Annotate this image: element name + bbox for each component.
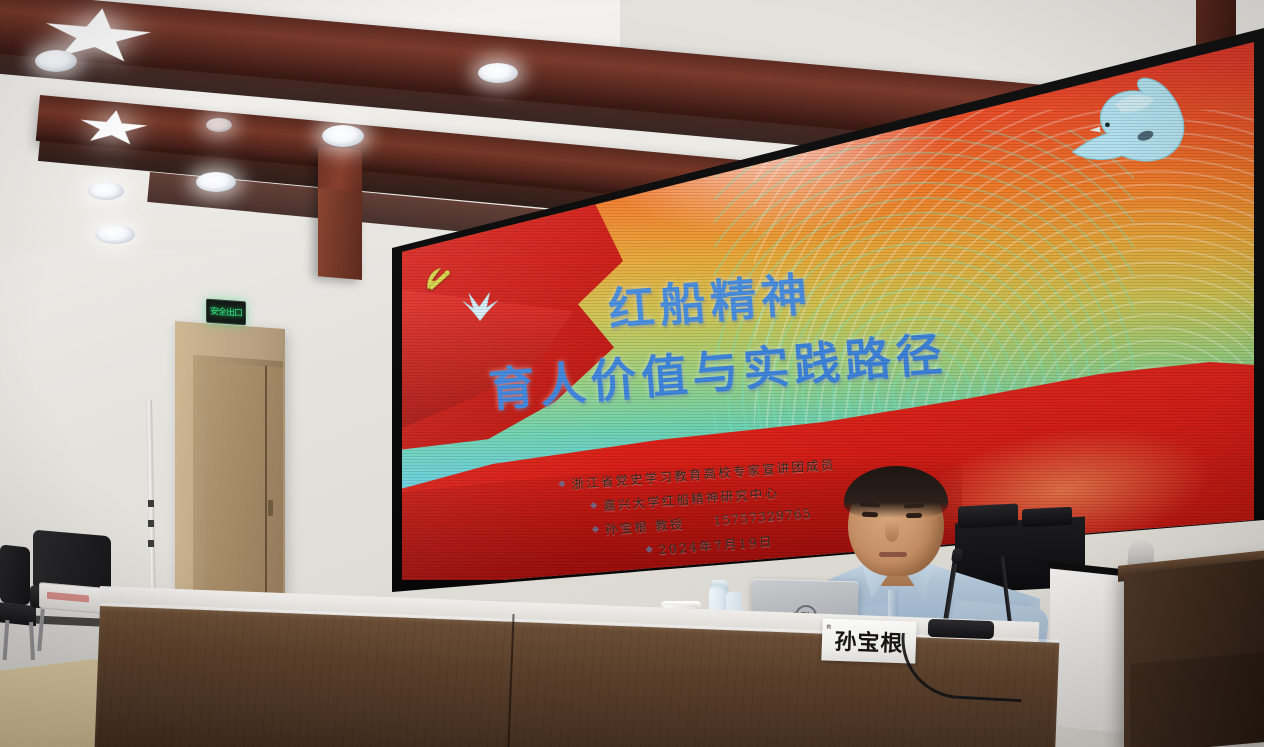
downlight-icon: [196, 172, 236, 192]
star-light-icon: [75, 107, 152, 149]
dove-icon: [460, 290, 500, 324]
name-plate-text: 孙宝根: [834, 624, 904, 658]
bullet-icon: [590, 502, 597, 509]
podium-base: [1130, 652, 1264, 747]
downlight-icon: [88, 182, 124, 200]
hair: [844, 466, 948, 518]
presentation-date: 2024年7月19日: [658, 531, 774, 559]
eye-left: [862, 512, 878, 518]
chair-back: [0, 544, 30, 605]
downlight-icon: [35, 50, 77, 72]
door[interactable]: [205, 362, 283, 613]
nose: [885, 520, 899, 542]
downlight-icon: [95, 225, 135, 244]
bottled-water-pack: [39, 582, 105, 614]
door-handle[interactable]: [268, 500, 273, 516]
downlight-icon: [322, 125, 364, 147]
pole-band: [148, 520, 154, 527]
wood-post-face: [318, 188, 362, 280]
speaker-phone: 15757329765: [713, 506, 812, 528]
exit-sign: 安全出口: [206, 299, 246, 326]
lecture-hall-photo: 安全出口: [0, 0, 1264, 747]
dove-icon: [1066, 74, 1196, 172]
mouth: [879, 552, 907, 557]
door-seam: [265, 366, 267, 609]
name-plate-mark: 教: [826, 624, 831, 631]
bullet-icon: [646, 546, 653, 553]
eye-right: [906, 513, 922, 518]
exit-sign-label: 安全出口: [210, 306, 242, 317]
bullet-icon: [558, 480, 565, 487]
chair-leg: [37, 609, 45, 651]
chair-leg: [3, 620, 10, 660]
speaker-name-title: 孙宝根 教授: [604, 513, 685, 538]
pole-band: [148, 500, 154, 507]
downlight-icon: [478, 63, 518, 83]
pole-band: [148, 540, 154, 547]
downlight-icon: [206, 118, 232, 132]
bullet-icon: [592, 526, 599, 533]
hammer-and-sickle-emblem: [420, 262, 454, 296]
